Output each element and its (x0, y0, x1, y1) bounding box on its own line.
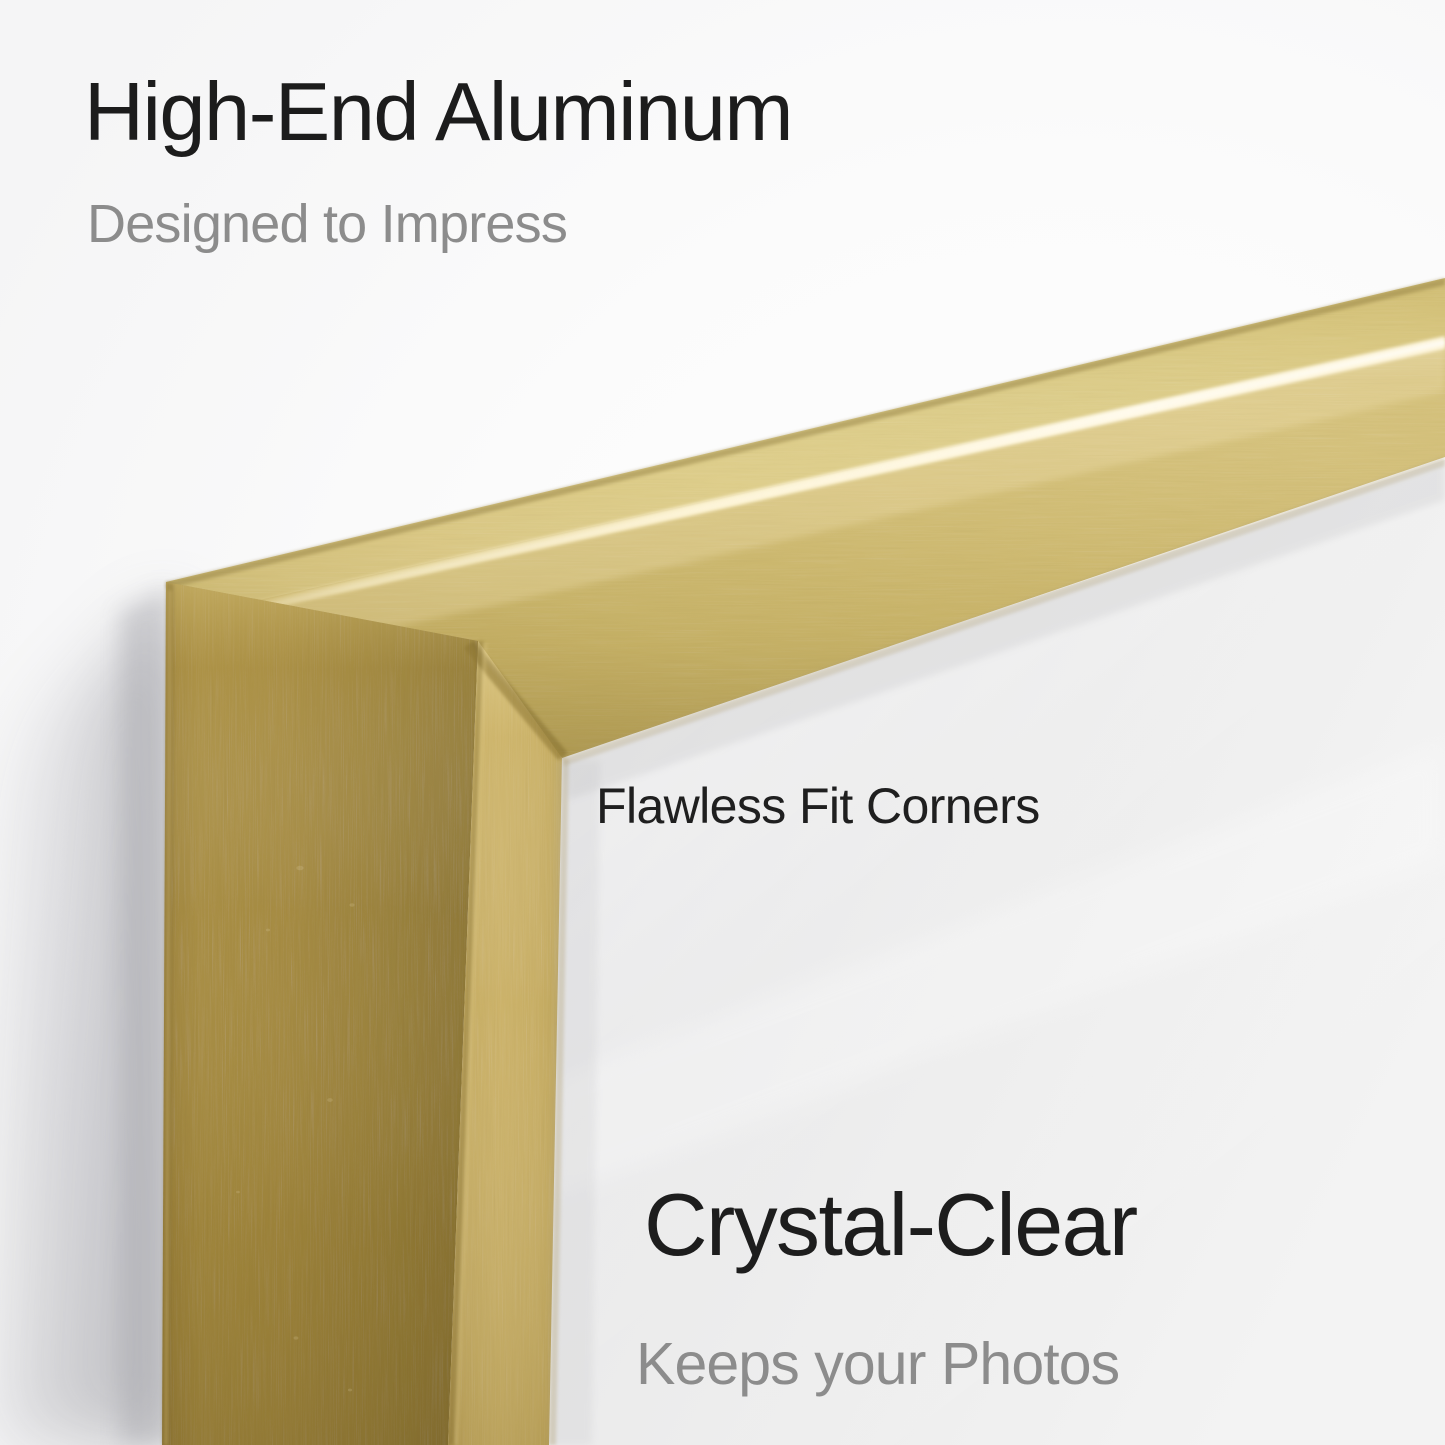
callout-glass-subheading: Keeps your Photos Looking Sharp (636, 1192, 1119, 1445)
product-feature-image: High-End Aluminum Designed to Impress Fl… (0, 0, 1445, 1445)
left-rail-outer-face (162, 582, 478, 1445)
callout-flawless-fit-corners: Flawless Fit Corners (596, 781, 1040, 831)
contact-shadow (120, 586, 170, 1445)
page-subtitle: Designed to Impress (87, 197, 567, 251)
left-frame-shadow-on-glass (549, 760, 600, 1445)
page-title: High-End Aluminum (84, 70, 792, 153)
callout-glass-subheading-line1: Keeps your Photos (636, 1330, 1119, 1399)
